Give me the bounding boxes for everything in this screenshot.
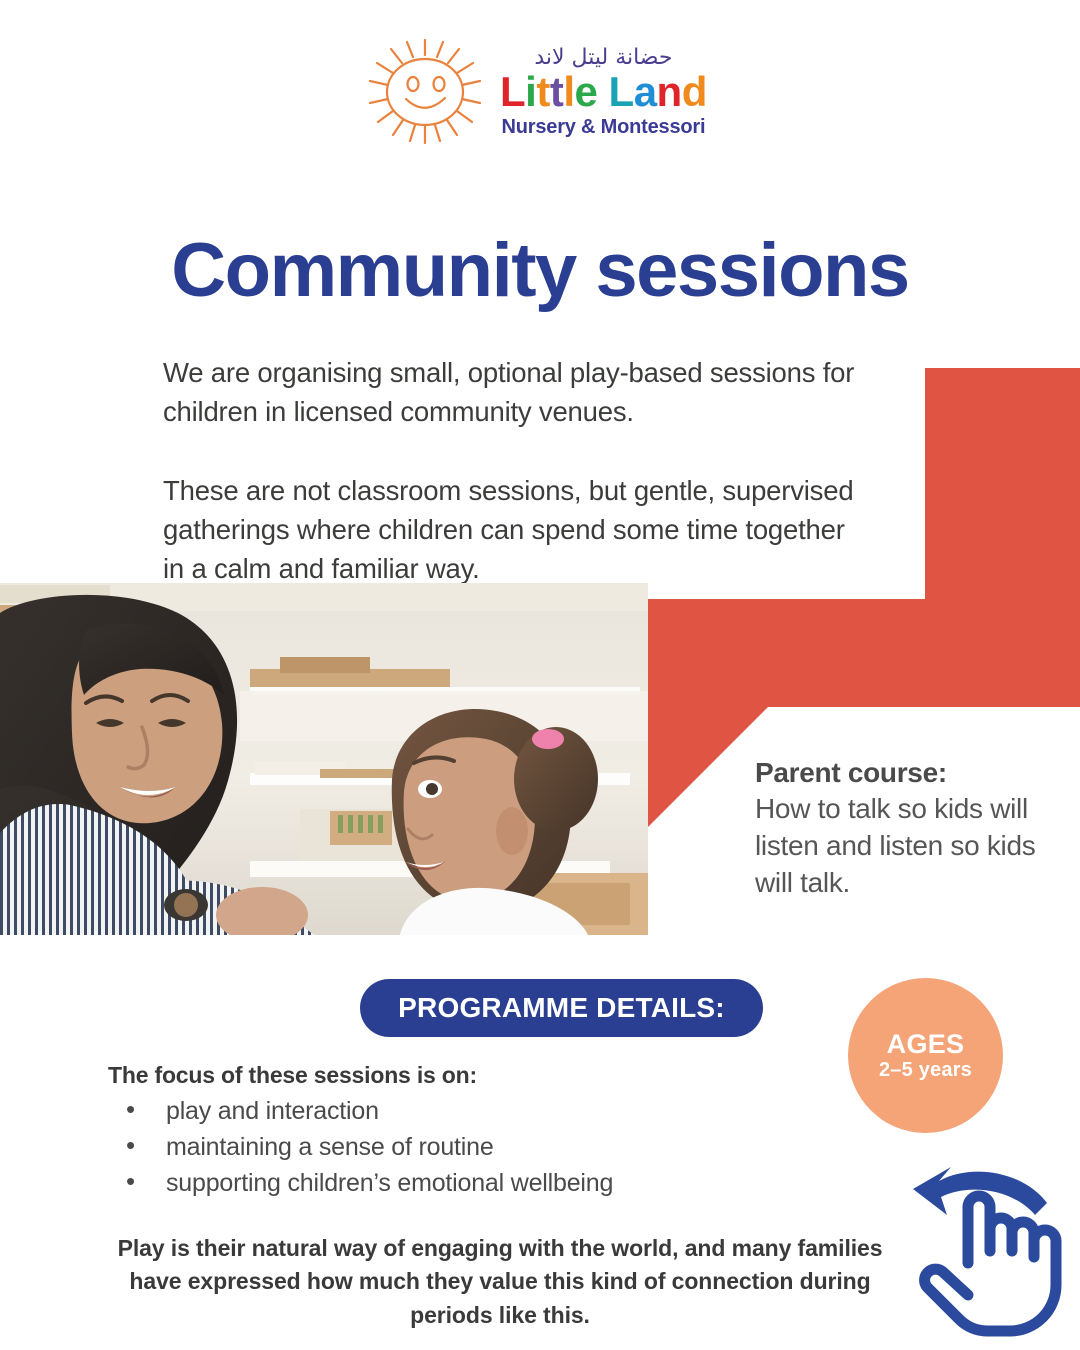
page-title: Community sessions xyxy=(0,233,1080,309)
ages-badge: AGES 2–5 years xyxy=(848,978,1003,1133)
poster-canvas: حضانة ليتل لاند Little Land Nursery & Mo… xyxy=(0,0,1080,1350)
focus-list: play and interaction maintaining a sense… xyxy=(108,1095,728,1199)
logo-tagline: Nursery & Montessori xyxy=(502,116,706,138)
logo-wordmark: حضانة ليتل لاند Little Land Nursery & Mo… xyxy=(500,45,707,137)
intro-paragraph-1: We are organising small, optional play-b… xyxy=(163,353,943,431)
brand-logo: حضانة ليتل لاند Little Land Nursery & Mo… xyxy=(360,34,730,149)
list-item: play and interaction xyxy=(118,1095,728,1127)
pointing-hand-icon xyxy=(895,1145,1075,1345)
programme-details-label: PROGRAMME DETAILS: xyxy=(398,992,725,1024)
logo-brand-name: Little Land xyxy=(500,70,707,114)
intro-paragraph-2: These are not classroom sessions, but ge… xyxy=(163,471,863,588)
focus-heading: The focus of these sessions is on: xyxy=(108,1062,728,1089)
teacher-and-child-photo xyxy=(0,583,648,935)
list-item: maintaining a sense of routine xyxy=(118,1131,728,1163)
focus-list-block: The focus of these sessions is on: play … xyxy=(108,1062,728,1203)
logo-arabic-name: حضانة ليتل لاند xyxy=(534,47,672,69)
parent-course-body: How to talk so kids will listen and list… xyxy=(755,791,1065,902)
parent-course-heading: Parent course: xyxy=(755,755,1065,791)
ages-range: 2–5 years xyxy=(879,1060,972,1080)
red-accent-block-top xyxy=(925,368,1080,600)
parent-course-block: Parent course: How to talk so kids will … xyxy=(755,755,1065,902)
red-accent-triangle xyxy=(648,707,768,827)
closing-statement: Play is their natural way of engaging wi… xyxy=(110,1232,890,1332)
smiling-sun-icon xyxy=(360,37,490,147)
list-item: supporting children’s emotional wellbein… xyxy=(118,1167,728,1199)
ages-label: AGES xyxy=(887,1031,965,1058)
programme-details-pill: PROGRAMME DETAILS: xyxy=(360,979,763,1037)
red-accent-bar xyxy=(648,599,1080,707)
